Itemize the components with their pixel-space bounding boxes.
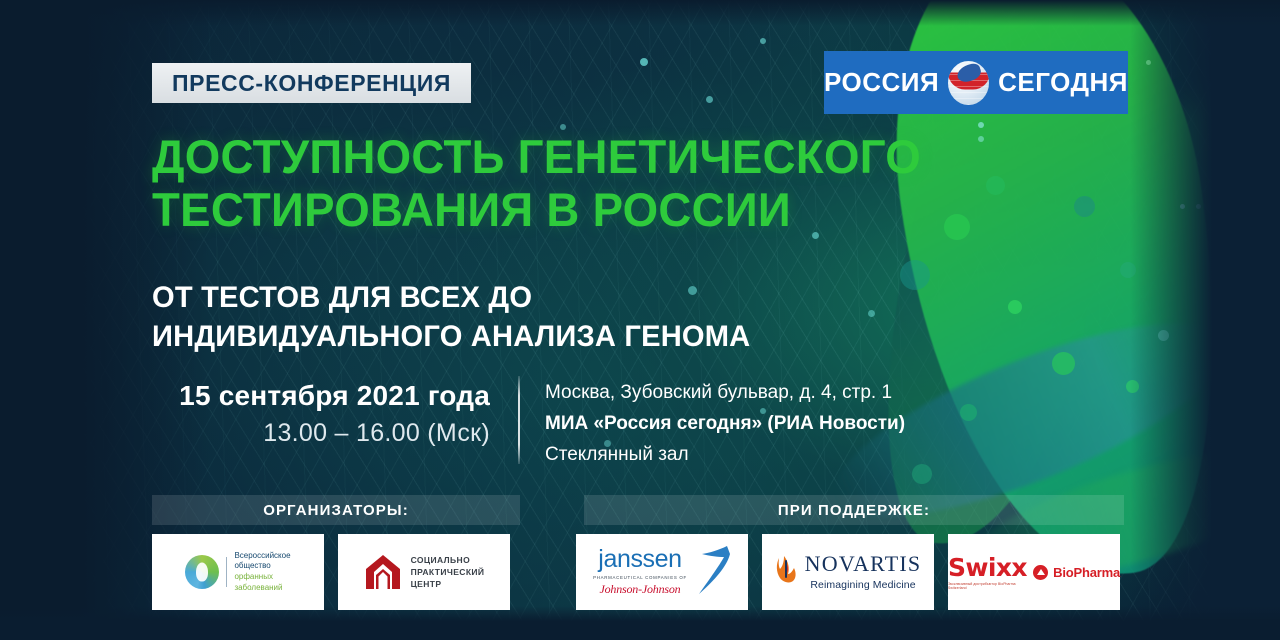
vooz-text-line-4: заболеваний [234,583,290,594]
event-time: 13.00 – 16.00 (Мск) [150,419,490,448]
background-bottom-shade [0,606,1280,640]
event-datetime: 15 сентября 2021 года 13.00 – 16.00 (Мск… [150,380,490,448]
organizers-logo-list: Всероссийское общество орфанных заболева… [152,534,510,610]
ria-novosti-logo: РОССИЯ СЕГОДНЯ [824,51,1128,114]
swixx-tagline: Эксклюзивный дистрибьютор BioPharma Swit… [948,582,1028,590]
vooz-text-line-3: орфанных [234,572,290,583]
swixx-mountain-icon [1033,565,1048,580]
leaf-person-icon [185,555,219,589]
novartis-flame-icon [775,554,797,591]
ria-logo-word-right: СЕГОДНЯ [998,67,1128,98]
organizers-band-label: ОРГАНИЗАТОРЫ: [263,502,409,519]
logo-card-spc[interactable]: СОЦИАЛЬНО ПРАКТИЧЕСКИЙ ЦЕНТР [338,534,510,610]
janssen-wing-icon [697,544,731,601]
page-subtitle-line-1: ОТ ТЕСТОВ ДЛЯ ВСЕХ ДО [152,278,889,317]
spc-text-line-1: СОЦИАЛЬНО [411,554,485,566]
logo-card-janssen[interactable]: janssen PHARMACEUTICAL COMPANIES OF John… [576,534,748,610]
event-date: 15 сентября 2021 года [150,380,490,412]
press-conference-banner: РОССИЯ СЕГОДНЯ ПРЕСС-КОНФЕРЕНЦИЯ ДОСТУПН… [0,0,1280,640]
logo-card-vooz[interactable]: Всероссийское общество орфанных заболева… [152,534,324,610]
background-right-vignette [1130,0,1280,640]
support-logo-list: janssen PHARMACEUTICAL COMPANIES OF John… [576,534,1120,610]
page-subtitle-line-2: ИНДИВИДУАЛЬНОГО АНАЛИЗА ГЕНОМА [152,317,889,356]
support-band: ПРИ ПОДДЕРЖКЕ: [584,495,1124,525]
page-title-line-1: ДОСТУПНОСТЬ ГЕНЕТИЧЕСКОГО [152,131,918,184]
spc-text-line-3: ЦЕНТР [411,578,485,590]
swixx-wordmark: Swixx [948,555,1028,580]
vooz-logo-text: Всероссийское общество орфанных заболева… [234,551,290,593]
janssen-logo-text: janssen PHARMACEUTICAL COMPANIES OF John… [593,547,687,597]
press-conference-badge-label: ПРЕСС-КОНФЕРЕНЦИЯ [172,70,451,97]
globe-icon [948,61,989,105]
swixx-biopharma-word: BioPharma [1053,565,1120,580]
janssen-parent-brand: Johnson-Johnson [599,582,680,597]
janssen-wordmark: janssen [598,547,681,572]
novartis-logo-text: NOVARTIS Reimagining Medicine [805,553,922,591]
vooz-text-line-2: общество [234,561,290,572]
venue-address-line-3: Стеклянный зал [545,440,905,471]
swixx-logo: Swixx Эксклюзивный дистрибьютор BioPharm… [948,555,1120,590]
venue-address-line-1: Москва, Зубовский бульвар, д. 4, стр. 1 [545,378,905,409]
logo-card-novartis[interactable]: NOVARTIS Reimagining Medicine [762,534,934,610]
janssen-tagline: PHARMACEUTICAL COMPANIES OF [593,575,687,580]
vertical-divider [518,376,520,464]
organizers-band: ОРГАНИЗАТОРЫ: [152,495,520,525]
page-title-line-2: ТЕСТИРОВАНИЯ В РОССИИ [152,184,918,237]
swixx-logo-text: Swixx Эксклюзивный дистрибьютор BioPharm… [948,555,1028,590]
press-conference-badge: ПРЕСС-КОНФЕРЕНЦИЯ [152,63,471,103]
vooz-logo-divider [226,557,227,587]
vooz-text-line-1: Всероссийское [234,551,290,562]
support-band-label: ПРИ ПОДДЕРЖКЕ: [778,502,930,519]
spc-logo: СОЦИАЛЬНО ПРАКТИЧЕСКИЙ ЦЕНТР [364,553,485,591]
spc-text-line-2: ПРАКТИЧЕСКИЙ [411,566,485,578]
page-subtitle: ОТ ТЕСТОВ ДЛЯ ВСЕХ ДО ИНДИВИДУАЛЬНОГО АН… [152,278,889,356]
novartis-wordmark: NOVARTIS [805,553,922,575]
spc-logo-text: СОЦИАЛЬНО ПРАКТИЧЕСКИЙ ЦЕНТР [411,554,485,591]
novartis-tagline: Reimagining Medicine [810,579,915,591]
vooz-logo: Всероссийское общество орфанных заболева… [185,551,290,593]
page-title: ДОСТУПНОСТЬ ГЕНЕТИЧЕСКОГО ТЕСТИРОВАНИЯ В… [152,131,918,236]
ria-logo-word-left: РОССИЯ [824,67,939,98]
novartis-logo: NOVARTIS Reimagining Medicine [775,553,922,591]
house-icon [364,553,402,591]
logo-card-swixx[interactable]: Swixx Эксклюзивный дистрибьютор BioPharm… [948,534,1120,610]
janssen-logo: janssen PHARMACEUTICAL COMPANIES OF John… [593,544,731,601]
background-top-shade [0,0,1280,26]
venue-address-line-2: МИА «Россия сегодня» (РИА Новости) [545,409,905,440]
event-venue: Москва, Зубовский бульвар, д. 4, стр. 1 … [545,378,905,470]
globe-grid-lines [948,61,989,105]
